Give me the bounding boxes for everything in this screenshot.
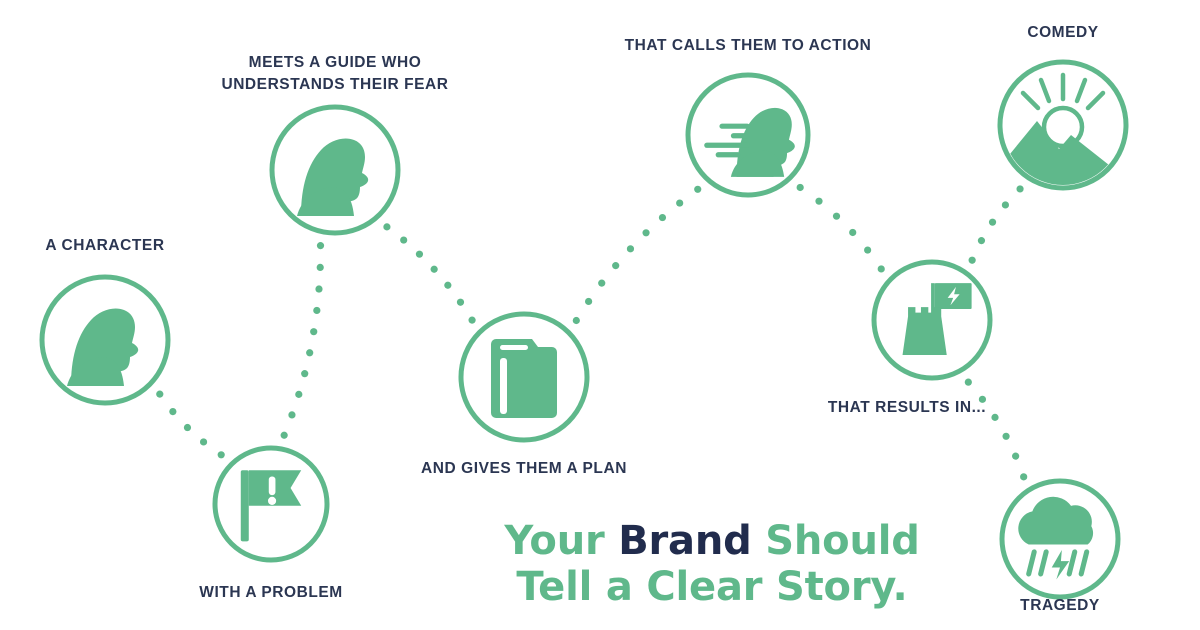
node-plan[interactable]: [461, 314, 587, 440]
headline-pre: Your: [504, 518, 618, 564]
node-label-action: That Calls Them to Action: [625, 35, 872, 57]
headline-post: Should: [752, 518, 920, 564]
headline-line-1: Your Brand Should: [504, 518, 919, 564]
headline-brand: Brand: [618, 518, 751, 564]
node-tragedy[interactable]: [1002, 481, 1118, 597]
node-label-plan: And Gives Them a Plan: [421, 458, 627, 480]
node-comedy[interactable]: [1000, 62, 1126, 227]
node-guide[interactable]: [272, 107, 398, 233]
node-label-guide: Meets a Guide Who Understands Their Fear: [221, 52, 448, 97]
headline-line-2: Tell a Clear Story.: [504, 564, 919, 610]
book-icon: [491, 339, 557, 418]
node-action[interactable]: [688, 75, 808, 195]
headline: Your Brand Should Tell a Clear Story.: [504, 518, 919, 611]
node-character[interactable]: [42, 277, 168, 403]
node-label-tragedy: Tragedy: [1020, 595, 1100, 617]
node-results[interactable]: [874, 262, 990, 378]
node-label-comedy: Comedy: [1027, 22, 1098, 44]
node-label-character: A Character: [45, 235, 164, 257]
node-label-problem: With a Problem: [199, 582, 342, 604]
infographic-canvas: A CharacterWith a ProblemMeets a Guide W…: [0, 0, 1200, 630]
node-label-results: That Results In...: [828, 397, 986, 419]
node-problem[interactable]: [215, 448, 327, 560]
